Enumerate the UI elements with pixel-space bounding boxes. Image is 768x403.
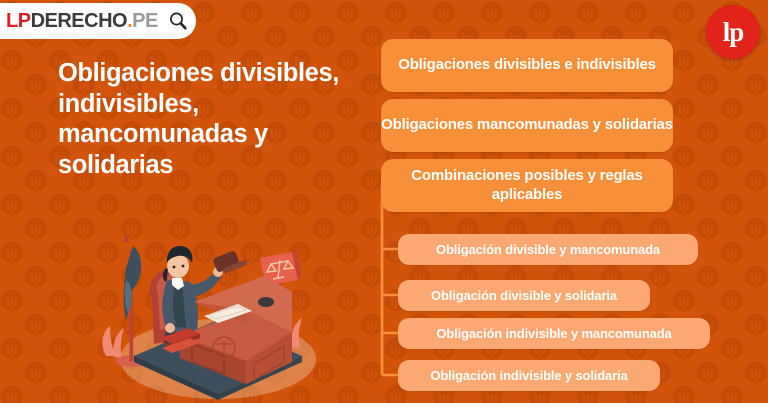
plant-left: [103, 326, 124, 358]
site-brand-pill[interactable]: LPDERECHO.PE: [0, 3, 196, 39]
diagram-node-sub-3-label: Obligación indivisible y mancomunada: [436, 326, 671, 342]
diagram-node-sub-3[interactable]: Obligación indivisible y mancomunada: [398, 318, 710, 349]
search-icon[interactable]: [168, 11, 188, 31]
brand-wordmark: LPDERECHO.PE: [6, 10, 158, 33]
brand-pe-text: PE: [132, 10, 158, 32]
diagram-node-main-2-label: Obligaciones mancomunadas y solidarias: [381, 116, 673, 135]
diagram-node-main-3[interactable]: Combinaciones posibles y reglas aplicabl…: [381, 159, 673, 212]
page-title: Obligaciones divisibles, indivisibles, m…: [58, 58, 378, 180]
diagram-node-main-1-label: Obligaciones divisibles e indivisibles: [398, 56, 656, 75]
lp-logo-badge[interactable]: lp: [706, 5, 760, 59]
judge-at-bench-illustration: [96, 228, 328, 403]
gavel: [212, 250, 248, 274]
brand-lp-text: LP: [6, 10, 31, 32]
diagram-node-sub-2[interactable]: Obligación divisible y solidaria: [398, 280, 650, 311]
diagram-node-sub-2-label: Obligación divisible y solidaria: [431, 288, 617, 304]
diagram-node-sub-4-label: Obligación indivisible y solidaria: [430, 368, 627, 384]
diagram-node-main-3-label: Combinaciones posibles y reglas aplicabl…: [381, 167, 673, 205]
diagram-node-sub-4[interactable]: Obligación indivisible y solidaria: [398, 360, 660, 391]
diagram-node-sub-1-label: Obligación divisible y mancomunada: [436, 242, 660, 258]
brand-derecho-text: DERECHO: [31, 10, 128, 32]
diagram-node-main-1[interactable]: Obligaciones divisibles e indivisibles: [381, 39, 673, 92]
diagram-node-sub-1[interactable]: Obligación divisible y mancomunada: [398, 234, 698, 265]
diagram-node-main-2[interactable]: Obligaciones mancomunadas y solidarias: [381, 99, 673, 152]
lp-badge-label: lp: [723, 19, 744, 46]
